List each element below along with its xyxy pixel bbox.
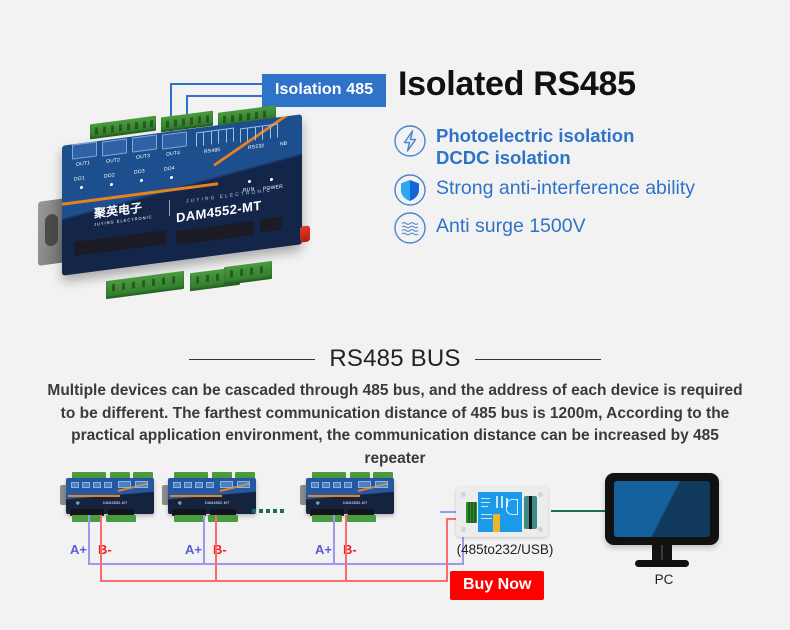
converter-capacitor bbox=[493, 514, 500, 532]
surge-wave-icon bbox=[393, 211, 427, 245]
wire-a-plus-2 bbox=[203, 515, 205, 564]
badge-leader-line-1 bbox=[170, 83, 263, 85]
label-a-plus-1: A+ bbox=[70, 542, 87, 557]
feature-line-1: Photoelectric isolation bbox=[436, 125, 634, 146]
diagram-device-1-model: DAM4552-MT bbox=[103, 501, 127, 505]
wire-b-minus-1 bbox=[100, 515, 102, 581]
feature-item-photoelectric-isolation: Photoelectric isolation DCDC isolation bbox=[393, 122, 788, 169]
converter-mount-hole-tr bbox=[538, 492, 543, 497]
diagram-device-2: ◎ DAM4552-MT bbox=[160, 472, 264, 522]
brand-divider bbox=[169, 200, 170, 216]
wire-a-plus-1 bbox=[88, 515, 90, 564]
converter-ic bbox=[506, 499, 518, 515]
rs485-converter-module bbox=[456, 487, 548, 537]
label-a-plus-2: A+ bbox=[185, 542, 202, 557]
label-a-plus-3: A+ bbox=[315, 542, 332, 557]
ellipsis-dots bbox=[252, 509, 284, 513]
bottom-terminal-block-1 bbox=[106, 271, 184, 299]
label-nb: NB bbox=[280, 141, 287, 148]
feature-list: Photoelectric isolation DCDC isolation S… bbox=[393, 122, 788, 247]
shield-icon bbox=[393, 173, 427, 207]
feature-text-anti-interference: Strong anti-interference ability bbox=[436, 171, 695, 199]
wire-a-plus-3 bbox=[333, 515, 335, 564]
converter-terminal-block bbox=[466, 502, 477, 523]
wire-b-minus-3 bbox=[345, 515, 347, 581]
bottom-terminal-block-3 bbox=[224, 261, 272, 285]
monitor-bezel bbox=[605, 473, 719, 545]
antenna-connector bbox=[300, 225, 310, 242]
converter-db9-connector bbox=[524, 496, 537, 529]
diagram-device-1: ◎ DAM4552-MT bbox=[58, 472, 162, 522]
monitor-base bbox=[635, 560, 689, 567]
feature-line-2: DCDC isolation bbox=[436, 147, 571, 168]
monitor-screen bbox=[614, 481, 710, 537]
product-image: OUT1 OUT2 OUT3 OUT4 RS485 RS232 NB DO1 D… bbox=[28, 108, 328, 323]
isolation-485-badge: Isolation 485 bbox=[262, 74, 386, 107]
pc-caption: PC bbox=[605, 572, 723, 587]
bus-section-title: RS485 BUS bbox=[329, 345, 460, 373]
feature-item-anti-surge: Anti surge 1500V bbox=[393, 209, 788, 245]
page-title: Isolated RS485 bbox=[398, 65, 636, 104]
diagram-device-2-model: DAM4552-MT bbox=[205, 501, 229, 505]
buy-now-button[interactable]: Buy Now bbox=[450, 571, 544, 600]
wire-b-minus-2 bbox=[215, 515, 217, 581]
bus-section-header: RS485 BUS bbox=[0, 345, 790, 373]
wire-a-plus-bus bbox=[88, 563, 464, 565]
divider-line-left bbox=[189, 359, 315, 360]
wire-converter-to-pc bbox=[551, 510, 607, 512]
pc-monitor-icon bbox=[605, 473, 723, 565]
converter-mount-hole-br bbox=[538, 527, 543, 532]
badge-leader-line-2 bbox=[186, 95, 263, 97]
divider-line-right bbox=[475, 359, 601, 360]
bus-description: Multiple devices can be cascaded through… bbox=[45, 380, 745, 470]
lightning-bolt-icon bbox=[393, 124, 427, 158]
product-infographic: Isolation 485 Isolated RS485 Photoelectr… bbox=[0, 0, 790, 630]
feature-item-anti-interference: Strong anti-interference ability bbox=[393, 171, 788, 207]
wire-b-minus-bus bbox=[100, 580, 448, 582]
diagram-device-3-model: DAM4552-MT bbox=[343, 501, 367, 505]
diagram-device-3: ◎ DAM4552-MT bbox=[298, 472, 402, 522]
converter-caption: (485to232/USB) bbox=[440, 542, 570, 557]
converter-mount-hole-bl bbox=[461, 527, 466, 532]
feature-text-photoelectric: Photoelectric isolation DCDC isolation bbox=[436, 122, 634, 169]
feature-text-anti-surge: Anti surge 1500V bbox=[436, 209, 586, 237]
converter-mount-hole-tl bbox=[461, 492, 466, 497]
